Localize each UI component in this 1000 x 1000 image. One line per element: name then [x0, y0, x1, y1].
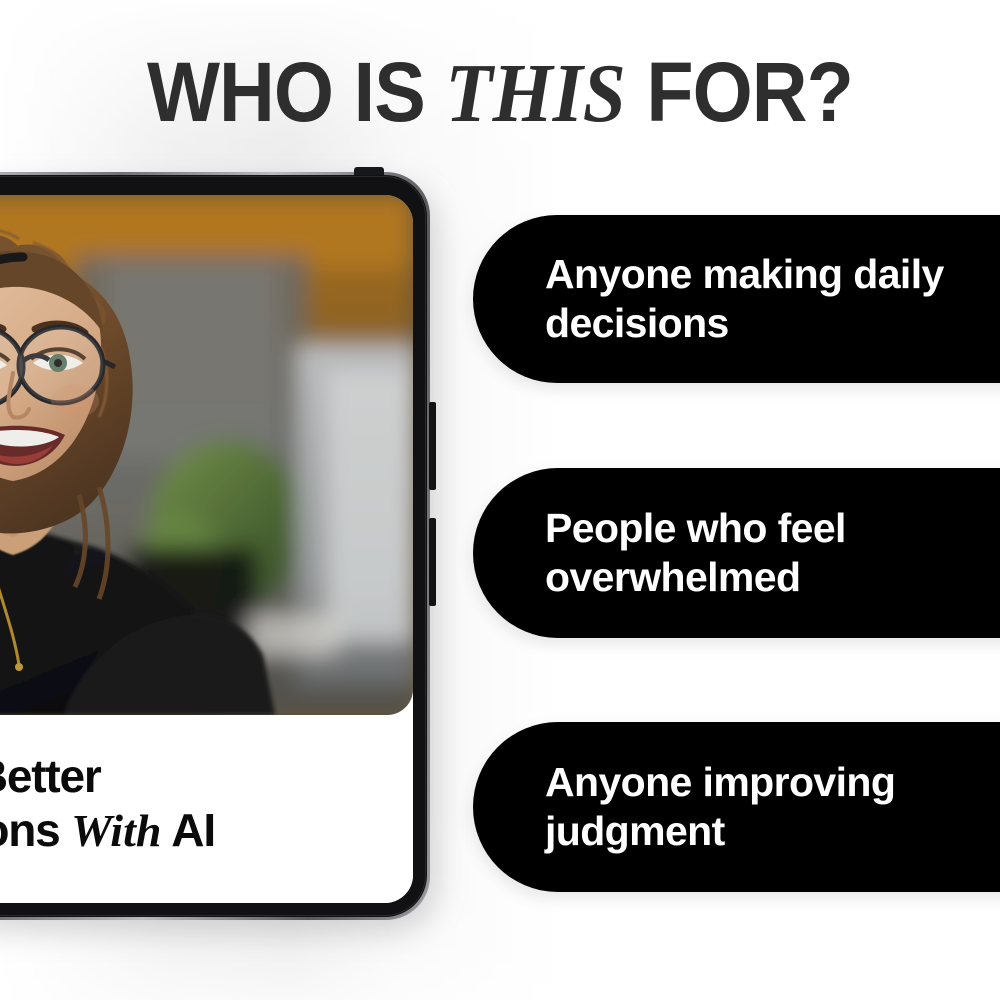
caption-line-1: Make Better	[0, 749, 387, 803]
caption-line2-before: Decisions	[0, 804, 71, 856]
device-bezel: Make Better Decisions With AI	[0, 175, 427, 917]
caption-emphasis-with: With	[71, 805, 161, 856]
audience-pill-2[interactable]: People who feel overwhelmed	[473, 468, 1000, 638]
audience-pill-1[interactable]: Anyone making daily decisions	[473, 215, 1000, 383]
slide-canvas: WHO IS THIS FOR?	[0, 0, 1000, 1000]
tablet-device-mockup: Make Better Decisions With AI	[0, 172, 430, 924]
caption-line-2: Decisions With AI	[0, 803, 387, 858]
audience-pill-1-label: Anyone making daily decisions	[545, 250, 975, 348]
title-part-before: WHO IS	[147, 45, 445, 139]
title-part-after: FOR?	[626, 45, 853, 139]
title-emphasis-this: THIS	[445, 47, 625, 140]
volume-down-button[interactable]	[429, 518, 436, 606]
photo-caption: Make Better Decisions With AI	[0, 719, 413, 903]
audience-pill-2-label: People who feel overwhelmed	[545, 504, 975, 602]
hero-photo	[0, 195, 413, 715]
page-title: WHO IS THIS FOR?	[40, 46, 960, 140]
audience-pill-3-label: Anyone improving judgment	[545, 758, 975, 856]
volume-up-button[interactable]	[429, 402, 436, 490]
caption-line2-after: AI	[161, 804, 214, 856]
device-screen: Make Better Decisions With AI	[0, 195, 413, 903]
audience-pill-3[interactable]: Anyone improving judgment	[473, 722, 1000, 892]
